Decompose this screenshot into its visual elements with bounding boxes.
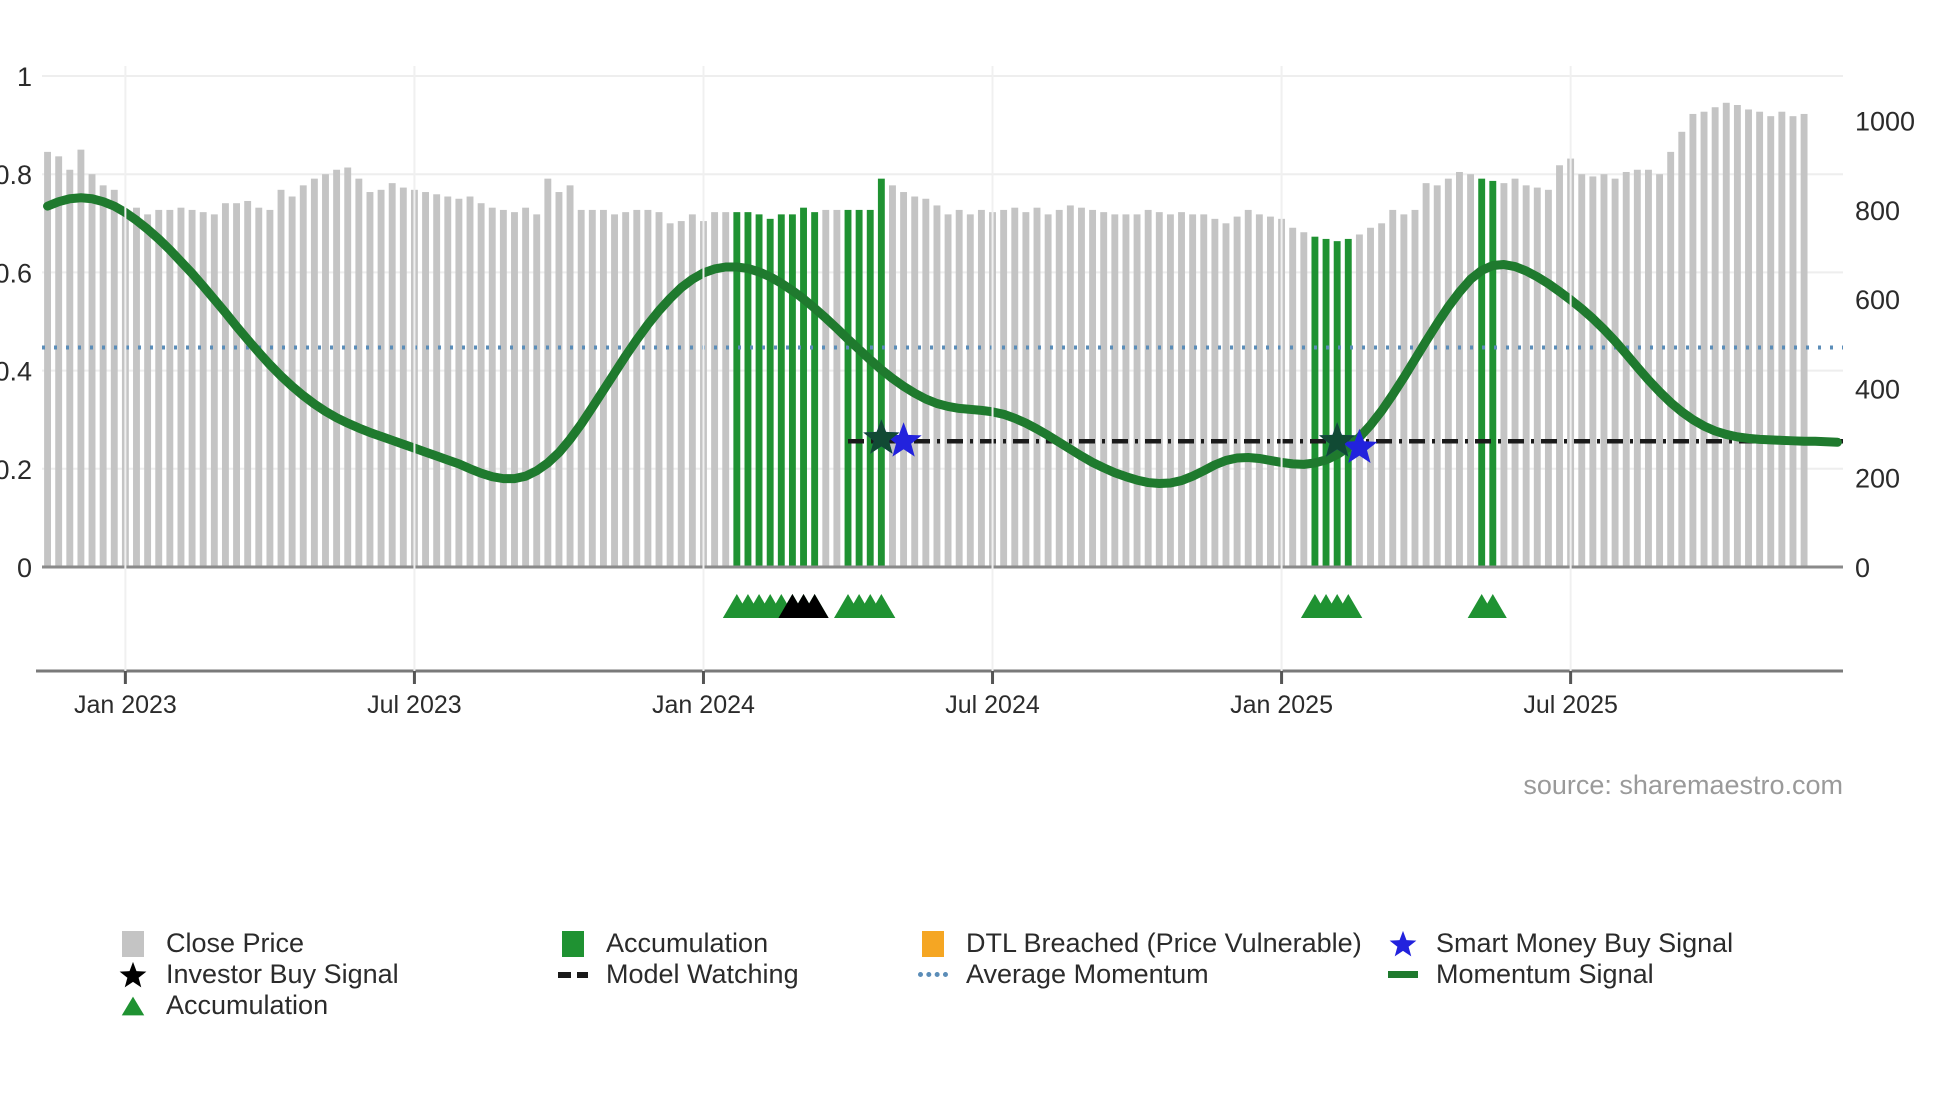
- y-axis-left-tick-label: 0: [17, 553, 32, 583]
- close-price-bar: [1534, 188, 1541, 567]
- close-price-bar: [667, 223, 674, 567]
- close-price-bar: [1578, 174, 1585, 567]
- legend-accumulation-marker[interactable]: Accumulation: [118, 990, 328, 1021]
- legend-smart-money[interactable]: Smart Money Buy Signal: [1388, 928, 1733, 959]
- legend-star-icon: [1388, 928, 1418, 960]
- close-price-bar: [967, 214, 974, 567]
- close-price-bar: [133, 208, 140, 567]
- close-price-bar: [656, 212, 663, 567]
- legend-row-1: Close PriceAccumulationDTL Breached (Pri…: [118, 928, 1718, 959]
- legend-label: Accumulation: [166, 990, 328, 1021]
- y-axis-left-tick-label: 0.2: [0, 455, 32, 485]
- y-axis-right-tick-label: 1000: [1855, 107, 1915, 137]
- close-price-bar: [422, 192, 429, 567]
- close-price-bar: [1734, 105, 1741, 567]
- legend-close-price[interactable]: Close Price: [118, 928, 304, 959]
- close-price-bar: [678, 221, 685, 567]
- accumulation-bar: [778, 214, 785, 567]
- accumulation-bar: [1334, 241, 1341, 567]
- close-price-bar: [622, 212, 629, 567]
- close-price-bar: [1089, 210, 1096, 567]
- close-price-bar: [945, 214, 952, 567]
- legend-dtl-breached[interactable]: DTL Breached (Price Vulnerable): [918, 928, 1362, 959]
- legend-square-icon: [118, 931, 148, 957]
- accumulation-bar: [800, 208, 807, 567]
- triangle-up-icon: [118, 991, 148, 1021]
- legend-square-icon: [918, 931, 948, 957]
- close-price-bar: [1167, 214, 1174, 567]
- accumulation-bar: [856, 210, 863, 567]
- close-price-bar: [478, 203, 485, 567]
- close-price-bar: [166, 210, 173, 567]
- source-credit: source: sharemaestro.com: [1523, 770, 1843, 800]
- legend-label: Momentum Signal: [1436, 959, 1654, 990]
- close-price-bar: [1689, 114, 1696, 567]
- x-axis-tick-label: Jan 2024: [652, 691, 755, 719]
- close-price-bar: [956, 210, 963, 567]
- close-price-bar: [1178, 212, 1185, 567]
- close-price-bar: [1523, 185, 1530, 567]
- close-price-bar: [211, 214, 218, 567]
- close-price-bar: [1645, 170, 1652, 567]
- close-price-bar: [433, 194, 440, 567]
- close-price-bar: [1745, 109, 1752, 567]
- close-price-bar: [1067, 205, 1074, 567]
- legend-solid-icon: [1388, 971, 1418, 978]
- close-price-bar: [911, 197, 918, 567]
- legend-row-2: Investor Buy SignalModel WatchingAverage…: [118, 959, 1718, 990]
- close-price-bar: [1367, 228, 1374, 567]
- close-price-bar: [556, 192, 563, 567]
- close-price-bar: [1712, 107, 1719, 567]
- close-price-bar: [344, 168, 351, 568]
- close-price-bar: [400, 188, 407, 567]
- square-icon: [122, 931, 144, 957]
- accumulation-bar: [789, 214, 796, 567]
- close-price-bar: [389, 183, 396, 567]
- accumulation-bar: [1323, 239, 1330, 567]
- close-price-bar: [578, 210, 585, 567]
- close-price-bar: [111, 190, 118, 567]
- close-price-bar: [1034, 208, 1041, 567]
- close-price-bar: [255, 208, 262, 567]
- close-price-bar: [1434, 185, 1441, 567]
- close-price-bar: [1612, 179, 1619, 567]
- close-price-bar: [1111, 214, 1118, 567]
- close-price-bar: [333, 170, 340, 567]
- star-icon: [1388, 928, 1418, 960]
- legend-label: Accumulation: [606, 928, 768, 959]
- close-price-bar: [66, 170, 73, 567]
- close-price-bar: [1256, 214, 1263, 567]
- close-price-bar: [322, 174, 329, 567]
- legend-model-watching[interactable]: Model Watching: [558, 959, 799, 990]
- legend-investor-buy[interactable]: Investor Buy Signal: [118, 959, 399, 990]
- y-axis-left-tick-label: 0.4: [0, 357, 32, 387]
- close-price-bar: [1022, 212, 1029, 567]
- close-price-bar: [934, 205, 941, 567]
- close-price-bar: [533, 214, 540, 567]
- close-price-bar: [144, 214, 151, 567]
- square-icon: [562, 931, 584, 957]
- close-price-bar: [311, 179, 318, 567]
- dashed-line-icon: [558, 972, 588, 978]
- y-axis-left-tick-label: 0.6: [0, 258, 32, 288]
- close-price-bar: [611, 214, 618, 567]
- close-price-bar: [489, 208, 496, 567]
- close-price-bar: [567, 185, 574, 567]
- legend-label: Investor Buy Signal: [166, 959, 399, 990]
- close-price-bar: [633, 210, 640, 567]
- y-axis-left-tick-label: 1: [17, 62, 32, 92]
- close-price-bar: [1412, 210, 1419, 567]
- close-price-bar: [1045, 214, 1052, 567]
- close-price-bar: [455, 199, 462, 567]
- legend-label: Average Momentum: [966, 959, 1209, 990]
- close-price-bar: [1545, 190, 1552, 567]
- legend-row-3: Accumulation: [118, 990, 1718, 1021]
- close-price-bar: [55, 156, 62, 567]
- close-price-bar: [266, 210, 273, 567]
- legend-dotted-icon: [918, 972, 948, 977]
- chart-page: Jan 2023Jul 2023Jan 2024Jul 2024Jan 2025…: [0, 0, 1960, 1102]
- close-price-bar: [100, 185, 107, 567]
- close-price-bar: [1790, 116, 1797, 567]
- close-price-bar: [1423, 183, 1430, 567]
- legend-label: Model Watching: [606, 959, 799, 990]
- close-price-bar: [155, 210, 162, 567]
- close-price-bar: [367, 192, 374, 567]
- accumulation-bar: [867, 210, 874, 567]
- close-price-bar: [1156, 212, 1163, 567]
- solid-line-icon: [1388, 971, 1418, 978]
- close-price-bar: [1078, 208, 1085, 567]
- close-price-bar: [1623, 172, 1630, 567]
- close-price-bar: [77, 150, 84, 567]
- close-price-bar: [1500, 183, 1507, 567]
- close-price-bar: [244, 201, 251, 567]
- close-price-bar: [1667, 152, 1674, 567]
- x-axis-tick-label: Jan 2025: [1230, 691, 1333, 719]
- close-price-bar: [689, 214, 696, 567]
- square-icon: [922, 931, 944, 957]
- close-price-bar: [1678, 132, 1685, 567]
- close-price-bar: [1556, 165, 1563, 567]
- close-price-bar: [978, 210, 985, 567]
- legend-dash-icon: [558, 972, 588, 978]
- y-axis-right-tick-label: 0: [1855, 553, 1870, 583]
- accumulation-bar: [845, 210, 852, 567]
- close-price-bar: [544, 179, 551, 567]
- legend-average-momentum[interactable]: Average Momentum: [918, 959, 1209, 990]
- close-price-bar: [1189, 214, 1196, 567]
- star-icon: [118, 959, 148, 991]
- accumulation-bar: [1478, 179, 1485, 567]
- close-price-bar: [1400, 214, 1407, 567]
- close-price-bar: [1011, 208, 1018, 567]
- close-price-bar: [1000, 210, 1007, 567]
- close-price-bar: [300, 185, 307, 567]
- close-price-bar: [1445, 179, 1452, 567]
- x-axis-tick-label: Jul 2025: [1523, 691, 1618, 719]
- bars-group: [44, 103, 1807, 567]
- close-price-bar: [189, 210, 196, 567]
- close-price-bar: [1211, 219, 1218, 567]
- close-price-bar: [44, 152, 51, 567]
- close-price-bar: [822, 210, 829, 567]
- close-price-bar: [1056, 210, 1063, 567]
- y-axis-right-tick-label: 800: [1855, 196, 1900, 226]
- legend-label: DTL Breached (Price Vulnerable): [966, 928, 1362, 959]
- accumulation-bar: [1345, 239, 1352, 567]
- close-price-bar: [1767, 116, 1774, 567]
- close-price-bar: [1467, 174, 1474, 567]
- close-price-bar: [1300, 232, 1307, 567]
- close-price-bar: [1122, 214, 1129, 567]
- close-price-bar: [1200, 214, 1207, 567]
- close-price-bar: [1701, 112, 1708, 567]
- close-price-bar: [1378, 223, 1385, 567]
- legend-star-icon: [118, 959, 148, 991]
- close-price-bar: [1756, 112, 1763, 567]
- accumulation-bar: [1489, 181, 1496, 567]
- close-price-bar: [1456, 172, 1463, 567]
- legend-triangle-icon: [118, 991, 148, 1021]
- close-price-bar: [589, 210, 596, 567]
- close-price-bar: [644, 210, 651, 567]
- close-price-bar: [833, 210, 840, 567]
- accumulation-bar: [1311, 237, 1318, 567]
- close-price-bar: [1145, 210, 1152, 567]
- dotted-line-icon: [918, 972, 948, 977]
- y-axis-right-tick-label: 600: [1855, 285, 1900, 315]
- y-axis-right-tick-label: 400: [1855, 375, 1900, 405]
- close-price-bar: [922, 199, 929, 567]
- x-axis-tick-label: Jul 2023: [367, 691, 462, 719]
- close-price-bar: [522, 208, 529, 567]
- x-axis-tick-label: Jul 2024: [945, 691, 1040, 719]
- y-axis-right-tick-label: 200: [1855, 464, 1900, 494]
- close-price-bar: [1289, 228, 1296, 567]
- close-price-bar: [233, 203, 240, 567]
- close-price-bar: [1100, 212, 1107, 567]
- close-price-bar: [444, 197, 451, 567]
- y-axis-left-tick-label: 0.8: [0, 160, 32, 190]
- x-axis-tick-label: Jan 2023: [74, 691, 177, 719]
- legend-momentum-signal[interactable]: Momentum Signal: [1388, 959, 1654, 990]
- close-price-bar: [1589, 176, 1596, 567]
- close-price-bar: [222, 203, 229, 567]
- close-price-bar: [378, 190, 385, 567]
- legend-label: Smart Money Buy Signal: [1436, 928, 1733, 959]
- legend-square-icon: [558, 931, 588, 957]
- close-price-bar: [511, 212, 518, 567]
- close-price-bar: [1223, 223, 1230, 567]
- close-price-bar: [1134, 214, 1141, 567]
- close-price-bar: [1234, 217, 1241, 567]
- legend-label: Close Price: [166, 928, 304, 959]
- close-price-bar: [500, 210, 507, 567]
- close-price-bar: [467, 197, 474, 567]
- accumulation-bar: [811, 212, 818, 567]
- close-price-bar: [1656, 174, 1663, 567]
- close-price-bar: [1778, 112, 1785, 567]
- close-price-bar: [1601, 174, 1608, 567]
- close-price-bar: [1512, 179, 1519, 567]
- close-price-bar: [355, 179, 362, 567]
- legend-accumulation-bar[interactable]: Accumulation: [558, 928, 768, 959]
- close-price-bar: [1267, 217, 1274, 567]
- close-price-bar: [1801, 114, 1808, 567]
- close-price-bar: [1723, 103, 1730, 567]
- close-price-bar: [200, 212, 207, 567]
- close-price-bar: [1245, 210, 1252, 567]
- close-price-bar: [89, 174, 96, 567]
- close-price-bar: [1356, 234, 1363, 567]
